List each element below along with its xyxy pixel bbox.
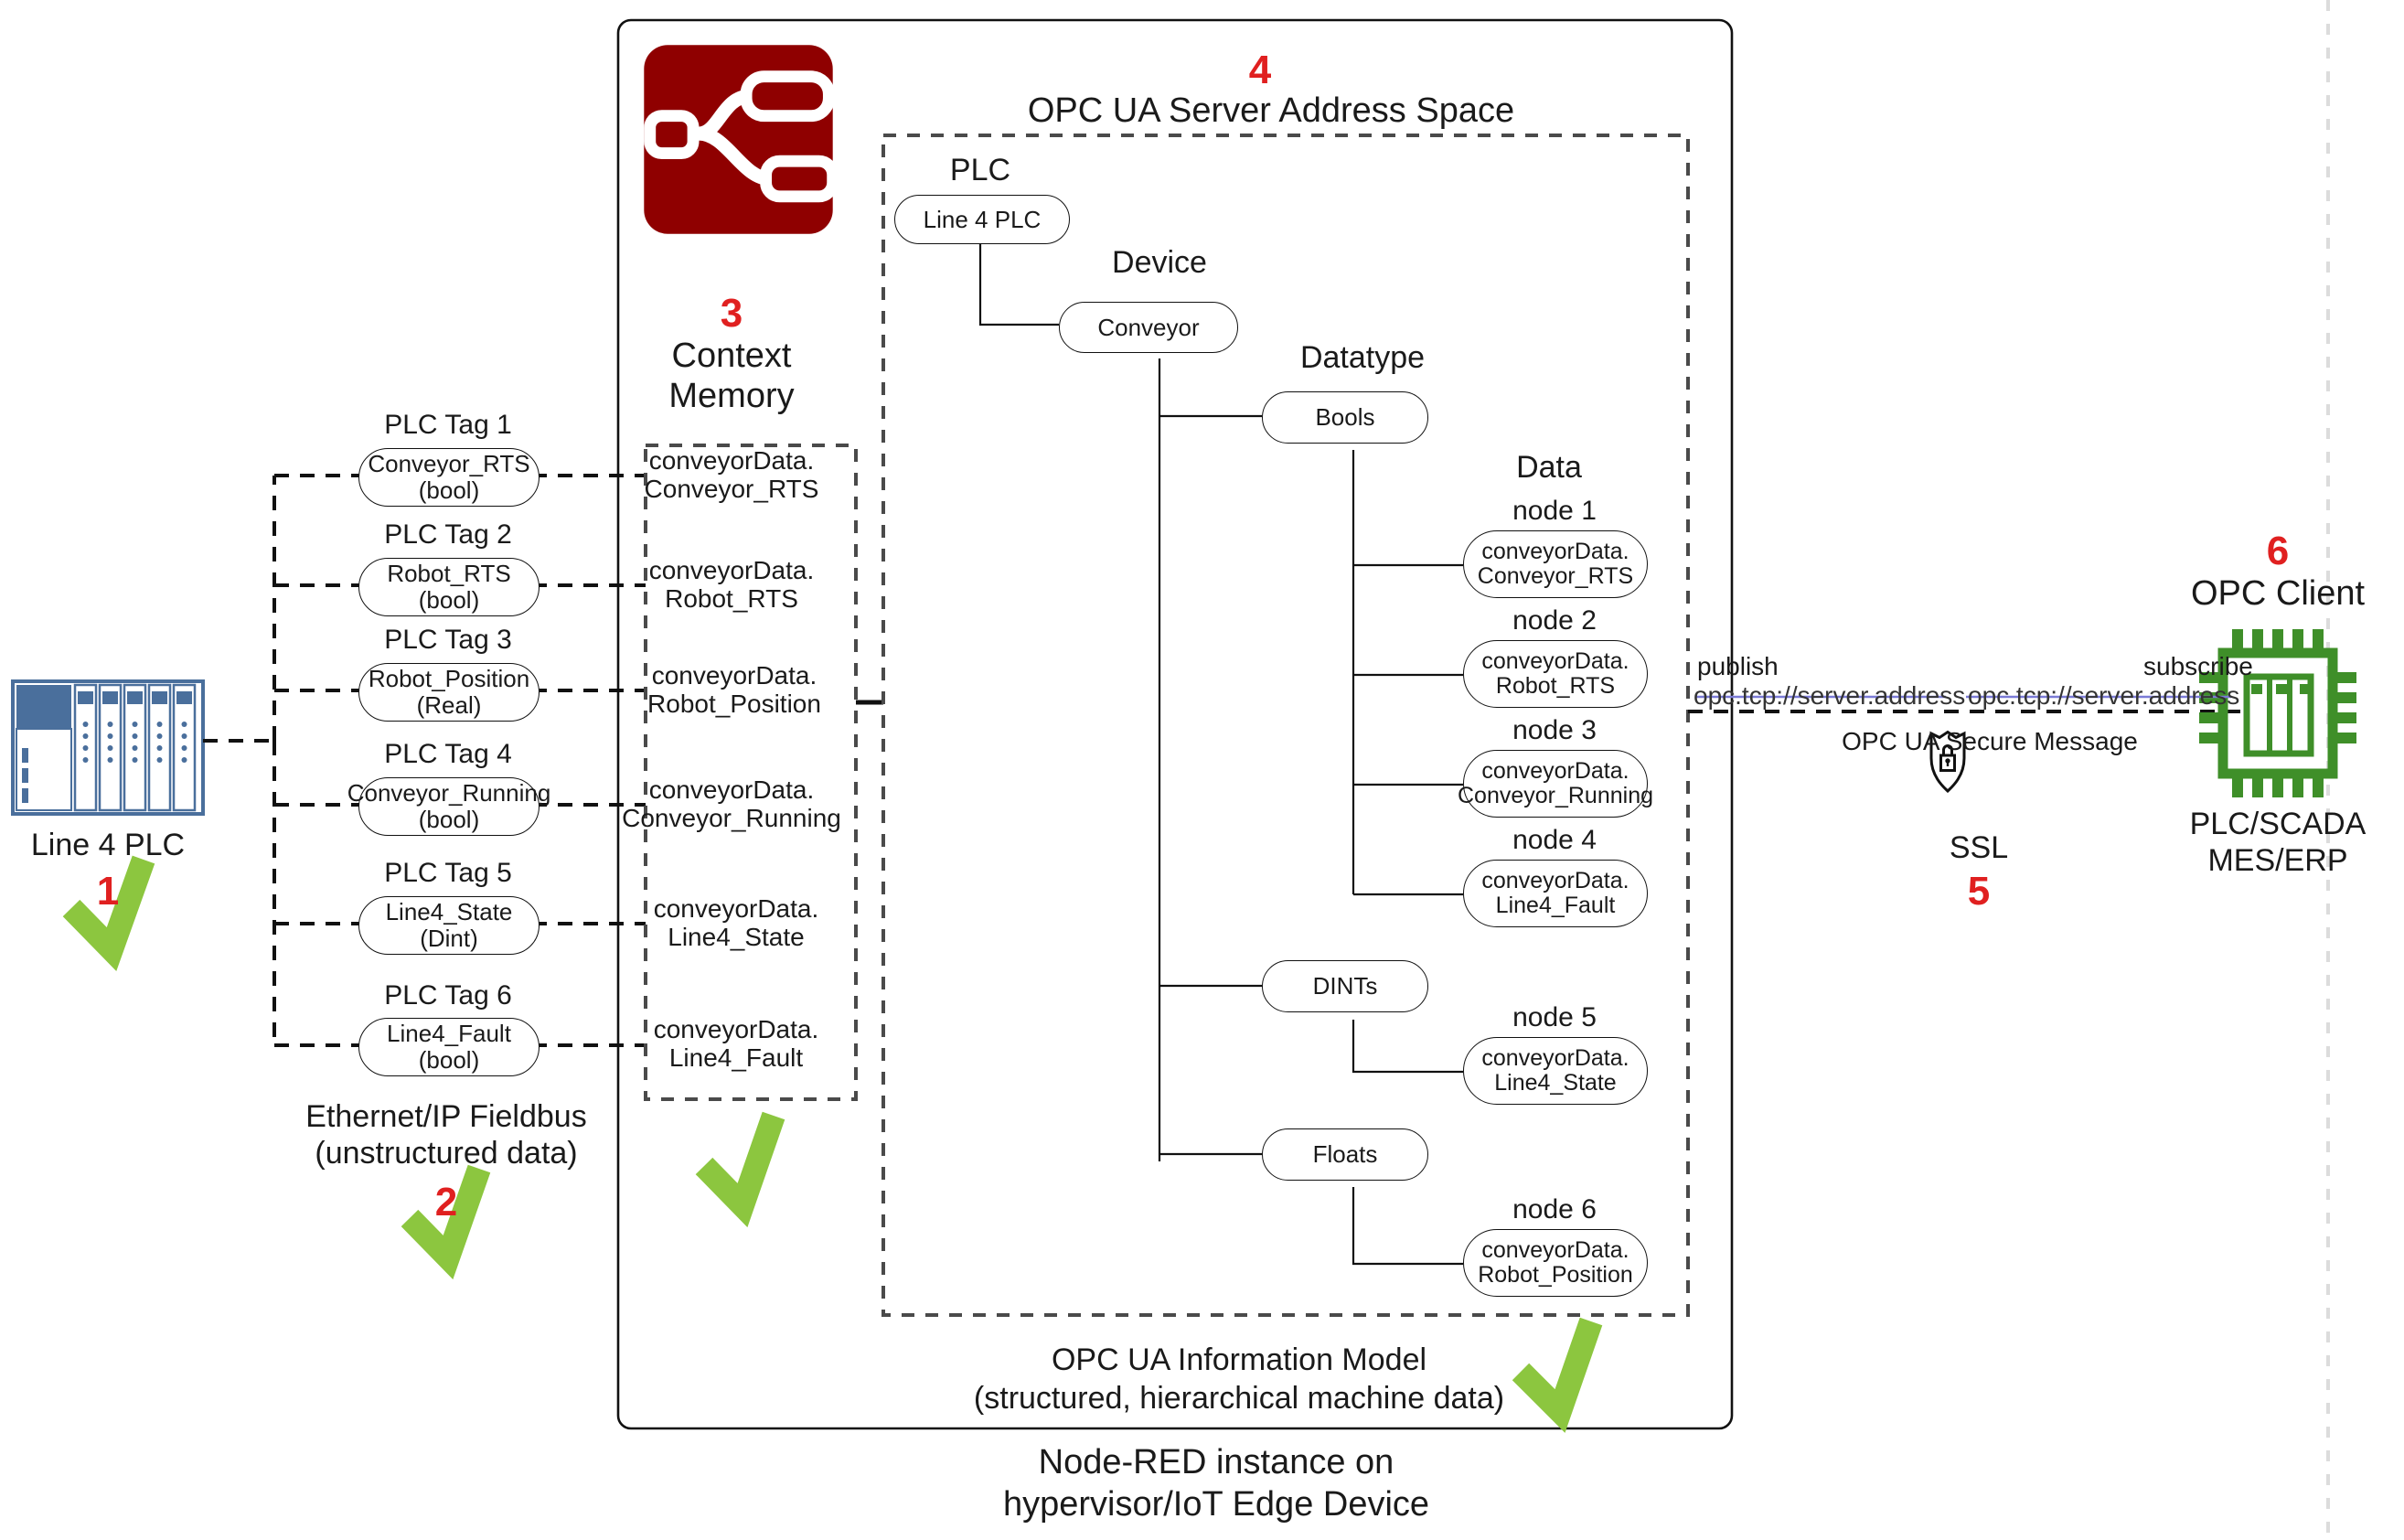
node-6-line1: conveyorData. xyxy=(1481,1238,1629,1264)
publish-label: publish xyxy=(1697,652,1779,680)
plc-tag-type-6: (bool) xyxy=(419,1047,479,1074)
plc-tag-name-6: Line4_Fault xyxy=(387,1021,511,1047)
context-entry-4-line2: Conveyor_Running xyxy=(622,804,841,832)
fieldbus-dashed-bus xyxy=(203,476,364,1045)
node-caption-2: node 2 xyxy=(1512,605,1597,636)
node-5-line2: Line4_State xyxy=(1494,1071,1616,1096)
fieldbus-label-line2: (unstructured data) xyxy=(315,1136,577,1171)
node-caption-6: node 6 xyxy=(1512,1194,1597,1225)
plc-tag-type-2: (bool) xyxy=(419,587,479,614)
plc-tag-caption-4: PLC Tag 4 xyxy=(384,739,512,770)
opc-client-sub-line1: PLC/SCADA xyxy=(2190,807,2367,841)
node-caption-5: node 5 xyxy=(1512,1002,1597,1033)
context-entry-5-line2: Line4_State xyxy=(668,923,804,951)
address-space-footer-line1: OPC UA Information Model xyxy=(1052,1342,1426,1377)
fieldbus-label-line1: Ethernet/IP Fieldbus xyxy=(305,1099,586,1134)
plc-tag-type-1: (bool) xyxy=(419,477,479,504)
marker-3: 3 xyxy=(721,291,743,336)
context-memory-title-line2: Memory xyxy=(668,377,794,416)
context-memory-title-line1: Context xyxy=(672,337,792,376)
node-4-line2: Line4_Fault xyxy=(1496,893,1616,919)
address-space-node-3[interactable]: conveyorData. Conveyor_Running xyxy=(1463,750,1648,818)
diagram-canvas: .solid{stroke:#111;stroke-width:2.2;fill… xyxy=(0,0,2404,1540)
plc-device-label: Line 4 PLC xyxy=(31,828,185,862)
datatype-bools-label: Bools xyxy=(1315,404,1374,431)
opc-client-title: OPC Client xyxy=(2191,574,2365,614)
plc-tag-caption-3: PLC Tag 3 xyxy=(384,625,512,656)
context-entry-2-line1: conveyorData. xyxy=(649,556,815,584)
plc-tag-caption-5: PLC Tag 5 xyxy=(384,858,512,889)
address-space-datatype-dints[interactable]: DINTs xyxy=(1262,960,1428,1012)
context-entry-3-line2: Robot_Position xyxy=(647,690,821,718)
address-space-plc-caption: PLC xyxy=(950,153,1010,187)
context-entry-5-line1: conveyorData. xyxy=(654,894,819,923)
address-space-data-caption: Data xyxy=(1516,450,1582,485)
host-label-line1: Node-RED instance on xyxy=(1039,1443,1394,1482)
context-entry-3-line1: conveyorData. xyxy=(652,661,817,690)
address-space-node-1[interactable]: conveyorData. Conveyor_RTS xyxy=(1463,530,1648,598)
marker-5: 5 xyxy=(1968,869,1990,914)
address-space-datatype-caption: Datatype xyxy=(1300,340,1425,375)
opc-client-sub-line2: MES/ERP xyxy=(2207,843,2347,878)
datatype-floats-label: Floats xyxy=(1313,1141,1378,1168)
subscribe-label: subscribe xyxy=(2143,652,2253,680)
address-space-device-node[interactable]: Conveyor xyxy=(1059,302,1238,353)
address-space-plc-node-label: Line 4 PLC xyxy=(924,207,1042,233)
secure-message-label: OPC UA Secure Message xyxy=(1842,727,2138,755)
plc-tag-caption-2: PLC Tag 2 xyxy=(384,519,512,551)
plc-tag-type-3: (Real) xyxy=(417,692,482,719)
connector-layer: .solid{stroke:#111;stroke-width:2.2;fill… xyxy=(0,0,2404,1540)
address-space-datatype-floats[interactable]: Floats xyxy=(1262,1128,1428,1181)
node-5-line1: conveyorData. xyxy=(1481,1046,1629,1072)
marker-4: 4 xyxy=(1249,48,1271,92)
node-caption-4: node 4 xyxy=(1512,825,1597,856)
node-2-line1: conveyorData. xyxy=(1481,649,1629,675)
address-space-plc-node[interactable]: Line 4 PLC xyxy=(894,195,1070,244)
node-3-line2: Conveyor_Running xyxy=(1458,784,1653,809)
context-entry-6-line1: conveyorData. xyxy=(654,1015,819,1043)
plc-tag-name-2: Robot_RTS xyxy=(387,561,510,587)
plc-tag-name-3: Robot_Position xyxy=(369,666,529,692)
node-4-line1: conveyorData. xyxy=(1481,869,1629,894)
address-space-node-4[interactable]: conveyorData. Line4_Fault xyxy=(1463,860,1648,927)
datatype-dints-label: DINTs xyxy=(1313,973,1378,1000)
context-entry-4-line1: conveyorData. xyxy=(649,775,815,804)
address-space-node-5[interactable]: conveyorData. Line4_State xyxy=(1463,1037,1648,1105)
plc-tag-name-1: Conveyor_RTS xyxy=(368,451,529,477)
node-1-line2: Conveyor_RTS xyxy=(1478,564,1633,590)
plc-tag-pill-1[interactable]: Conveyor_RTS (bool) xyxy=(358,448,540,507)
plc-tag-pill-3[interactable]: Robot_Position (Real) xyxy=(358,663,540,722)
marker-6: 6 xyxy=(2267,529,2289,573)
plc-tag-pill-2[interactable]: Robot_RTS (bool) xyxy=(358,558,540,616)
publish-url[interactable]: opc.tcp://server.address xyxy=(1693,681,1965,710)
address-space-node-6[interactable]: conveyorData. Robot_Position xyxy=(1463,1229,1648,1297)
plc-rack-icon xyxy=(13,681,203,814)
address-space-device-node-label: Conveyor xyxy=(1097,315,1199,341)
context-entry-1-line1: conveyorData. xyxy=(649,446,815,475)
node-2-line2: Robot_RTS xyxy=(1496,674,1615,700)
address-space-footer-line2: (structured, hierarchical machine data) xyxy=(974,1381,1504,1416)
plc-tag-pill-4[interactable]: Conveyor_Running (bool) xyxy=(358,777,540,836)
node-1-line1: conveyorData. xyxy=(1481,540,1629,565)
context-entry-6-line2: Line4_Fault xyxy=(669,1043,803,1072)
ssl-label: SSL xyxy=(1950,830,2008,865)
context-entry-2-line2: Robot_RTS xyxy=(665,584,798,613)
node-caption-1: node 1 xyxy=(1512,496,1597,527)
node-caption-3: node 3 xyxy=(1512,715,1597,746)
plc-tag-pill-6[interactable]: Line4_Fault (bool) xyxy=(358,1018,540,1076)
context-entry-1-line2: Conveyor_RTS xyxy=(645,475,819,503)
marker-2: 2 xyxy=(435,1180,457,1225)
plc-tag-type-4: (bool) xyxy=(419,807,479,833)
plc-tag-name-5: Line4_State xyxy=(386,899,513,925)
plc-tag-caption-1: PLC Tag 1 xyxy=(384,410,512,441)
subscribe-url[interactable]: opc.tcp://server.address xyxy=(1968,681,2239,710)
address-space-device-caption: Device xyxy=(1112,245,1207,280)
node-6-line2: Robot_Position xyxy=(1478,1263,1633,1289)
plc-tag-type-5: (Dint) xyxy=(420,925,478,952)
plc-tag-caption-6: PLC Tag 6 xyxy=(384,980,512,1011)
node-3-line1: conveyorData. xyxy=(1481,759,1629,785)
node-red-logo xyxy=(640,41,837,238)
plc-tag-pill-5[interactable]: Line4_State (Dint) xyxy=(358,896,540,955)
address-space-title: OPC UA Server Address Space xyxy=(1028,91,1514,131)
address-space-node-2[interactable]: conveyorData. Robot_RTS xyxy=(1463,640,1648,708)
address-space-datatype-bools[interactable]: Bools xyxy=(1262,391,1428,444)
marker-1: 1 xyxy=(97,869,119,914)
host-label-line2: hypervisor/IoT Edge Device xyxy=(1003,1485,1429,1524)
plc-tag-name-4: Conveyor_Running xyxy=(347,780,551,807)
